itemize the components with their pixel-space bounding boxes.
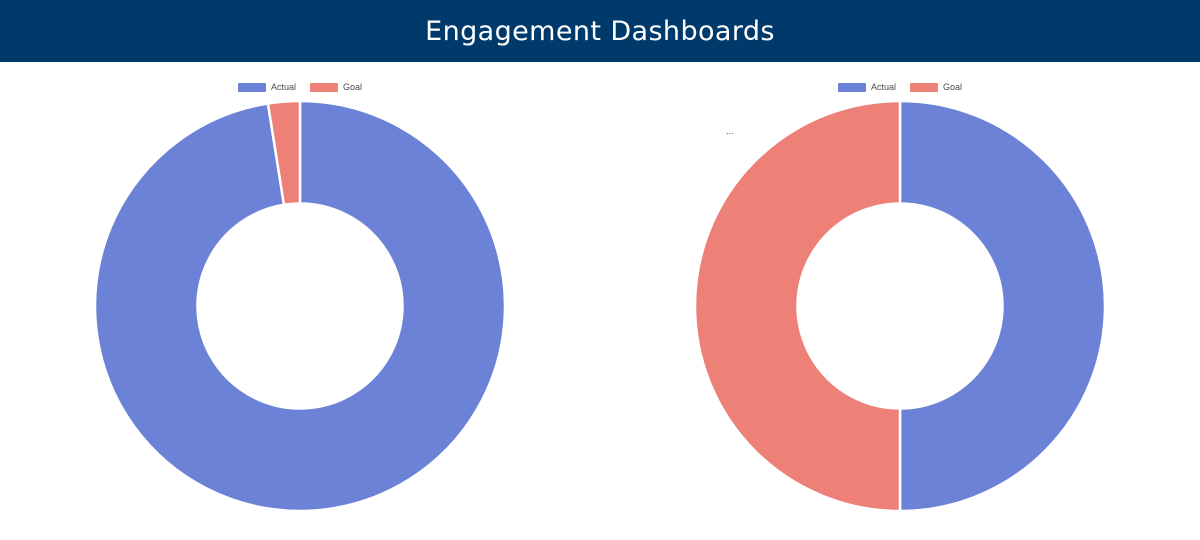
legend-label-actual: Actual (271, 83, 296, 92)
clipped-title-remnant: ... (726, 129, 736, 134)
donut-chart-right[interactable] (690, 96, 1110, 516)
legend-item-actual[interactable]: Actual (838, 83, 896, 92)
dashboard-body: Actual Goal Actual Goal (0, 62, 1200, 540)
legend-label-goal: Goal (943, 83, 962, 92)
legend-swatch-goal-icon (910, 83, 938, 92)
app-header: Engagement Dashboards (0, 0, 1200, 62)
legend-swatch-actual-icon (838, 83, 866, 92)
donut-slice-actual[interactable] (900, 101, 1105, 511)
legend-item-goal[interactable]: Goal (910, 83, 962, 92)
legend-item-goal[interactable]: Goal (310, 83, 362, 92)
chart-panel-right: Actual Goal (600, 62, 1200, 540)
legend-label-actual: Actual (871, 83, 896, 92)
page-title: Engagement Dashboards (425, 18, 775, 45)
legend-label-goal: Goal (343, 83, 362, 92)
donut-right-slices (695, 101, 1105, 511)
legend-item-actual[interactable]: Actual (238, 83, 296, 92)
donut-right-svg (690, 96, 1110, 516)
legend-swatch-actual-icon (238, 83, 266, 92)
donut-left-svg (90, 96, 510, 516)
legend-right: Actual Goal (600, 79, 1200, 95)
donut-slice-goal[interactable] (695, 101, 900, 511)
donut-chart-left[interactable] (90, 96, 510, 516)
donut-left-slices (95, 101, 505, 511)
legend-left: Actual Goal (0, 79, 600, 95)
legend-swatch-goal-icon (310, 83, 338, 92)
chart-panel-left: Actual Goal (0, 62, 600, 540)
